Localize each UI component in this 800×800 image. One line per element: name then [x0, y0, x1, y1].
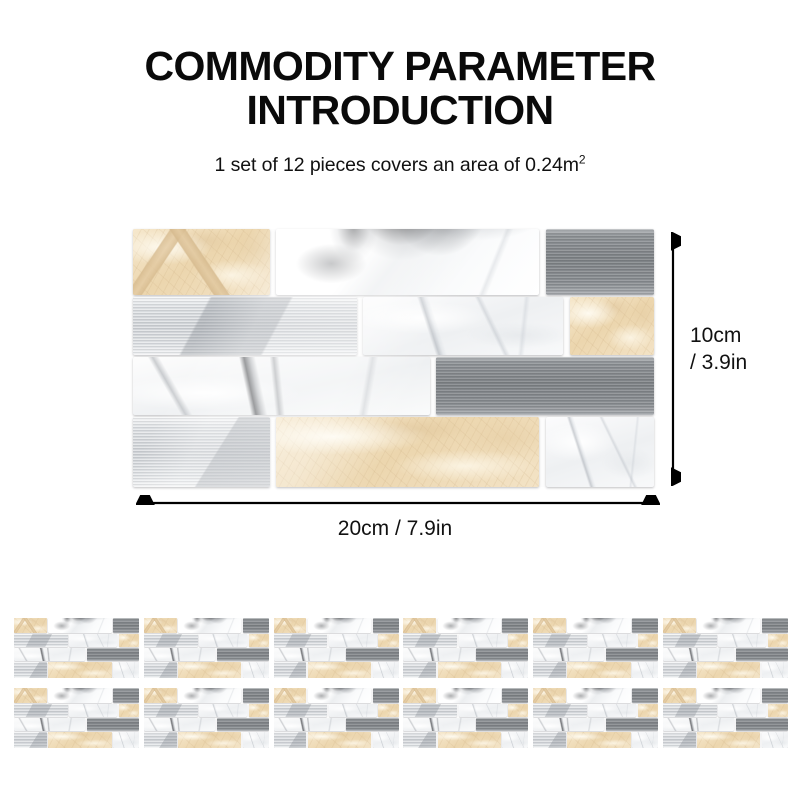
- piece-thumbnail: [274, 618, 399, 678]
- mosaic-tile: [308, 732, 371, 748]
- mosaic-row: [144, 718, 269, 731]
- mosaic-tile: [308, 662, 371, 678]
- mosaic-row: [133, 357, 654, 415]
- mosaic-row: [14, 718, 139, 731]
- width-dimension-label: 20cm / 7.9in: [133, 517, 657, 541]
- mosaic-tile: [606, 648, 658, 661]
- mosaic-tile: [476, 648, 528, 661]
- mosaic-tile: [567, 662, 630, 678]
- mosaic-tile: [533, 634, 587, 647]
- mosaic-tile: [736, 648, 788, 661]
- mosaic-tile: [48, 618, 111, 633]
- mosaic-tile: [144, 688, 177, 703]
- mosaic-row: [274, 662, 399, 678]
- mosaic-row: [144, 732, 269, 748]
- subtitle: 1 set of 12 pieces covers an area of 0.2…: [0, 154, 800, 177]
- mosaic-row: [533, 688, 658, 703]
- mosaic-row: [274, 618, 399, 633]
- mosaic-row: [14, 618, 139, 633]
- mosaic-tile: [14, 662, 47, 678]
- mosaic-tile: [459, 704, 507, 717]
- page-title-line-1: COMMODITY PARAMETER: [0, 44, 800, 88]
- piece-thumbnail: [14, 618, 139, 678]
- mosaic-row: [144, 662, 269, 678]
- mosaic-tile: [718, 704, 766, 717]
- mosaic-tile: [459, 634, 507, 647]
- mosaic-tile: [533, 662, 566, 678]
- mosaic-tile: [133, 297, 357, 355]
- mosaic-tile: [508, 634, 528, 647]
- mosaic-tile: [48, 732, 111, 748]
- mosaic-row: [144, 704, 269, 717]
- mosaic-tile: [274, 704, 328, 717]
- mosaic-row: [403, 634, 528, 647]
- mosaic-tile: [69, 704, 117, 717]
- mosaic-row: [403, 648, 528, 661]
- piece-thumbnail: [144, 688, 269, 748]
- mosaic-tile: [718, 634, 766, 647]
- mosaic-tile: [87, 648, 139, 661]
- mosaic-tile: [533, 732, 566, 748]
- mosaic-row: [663, 704, 788, 717]
- mosaic-tile: [663, 648, 734, 661]
- mosaic-row: [274, 688, 399, 703]
- mosaic-tile: [508, 704, 528, 717]
- mosaic-tile: [133, 417, 270, 487]
- mosaic-row: [403, 618, 528, 633]
- mosaic-row: [533, 648, 658, 661]
- mosaic-row: [403, 662, 528, 678]
- mosaic-tile: [570, 297, 654, 355]
- mosaic-tile: [178, 662, 241, 678]
- mosaic-tile: [546, 229, 654, 295]
- mosaic-tile: [144, 648, 215, 661]
- mosaic-row: [274, 648, 399, 661]
- mosaic-tile: [606, 718, 658, 731]
- mosaic-row: [274, 732, 399, 748]
- mosaic-tile: [178, 732, 241, 748]
- mosaic-tile: [697, 732, 760, 748]
- piece-thumbnail: [144, 618, 269, 678]
- mosaic-row: [533, 718, 658, 731]
- mosaic-tile: [113, 688, 139, 703]
- mosaic-tile: [249, 634, 269, 647]
- mosaic-tile: [69, 634, 117, 647]
- mosaic-tile: [533, 648, 604, 661]
- mosaic-tile: [274, 688, 307, 703]
- mosaic-tile: [119, 704, 139, 717]
- mosaic-tile: [438, 662, 501, 678]
- mosaic-tile: [14, 648, 85, 661]
- mosaic-tile: [243, 618, 269, 633]
- mosaic-tile: [436, 357, 654, 415]
- piece-thumbnail: [14, 688, 139, 748]
- mosaic-tile: [403, 648, 474, 661]
- mosaic-tile: [533, 688, 566, 703]
- mosaic-tile: [567, 688, 630, 703]
- mosaic-tile: [697, 662, 760, 678]
- mosaic-tile: [502, 618, 528, 633]
- mosaic-tile: [178, 618, 241, 633]
- mosaic-tile: [533, 704, 587, 717]
- mosaic-tile: [346, 718, 398, 731]
- mosaic-tile: [438, 688, 501, 703]
- mosaic-tile: [533, 618, 566, 633]
- mosaic-tile: [14, 634, 68, 647]
- mosaic-tile: [363, 297, 563, 355]
- mosaic-tile: [274, 634, 328, 647]
- mosaic-tile: [768, 634, 788, 647]
- mosaic-row: [533, 618, 658, 633]
- mosaic-tile: [697, 688, 760, 703]
- mosaic-tile: [274, 732, 307, 748]
- mosaic-tile: [632, 618, 658, 633]
- mosaic-tile: [638, 634, 658, 647]
- mosaic-tile: [663, 634, 717, 647]
- mosaic-row: [133, 417, 654, 487]
- mosaic-row: [663, 732, 788, 748]
- mosaic-tile: [274, 718, 345, 731]
- mosaic-tile: [438, 732, 501, 748]
- mosaic-tile: [768, 704, 788, 717]
- mosaic-tile: [762, 662, 788, 678]
- mosaic-row: [403, 704, 528, 717]
- mosaic-row: [144, 634, 269, 647]
- mosaic-row: [133, 229, 654, 295]
- mosaic-row: [663, 662, 788, 678]
- mosaic-row: [14, 662, 139, 678]
- mosaic-tile: [144, 718, 215, 731]
- mosaic-row: [14, 688, 139, 703]
- mosaic-tile: [403, 688, 436, 703]
- mosaic-tile: [113, 732, 139, 748]
- mosaic-tile: [308, 688, 371, 703]
- mosaic-row: [403, 688, 528, 703]
- mosaic-tile: [199, 704, 247, 717]
- page-title-line-2: INTRODUCTION: [0, 88, 800, 132]
- width-dimension-arrow: [136, 495, 660, 511]
- mosaic-row: [403, 732, 528, 748]
- mosaic-tile: [378, 634, 398, 647]
- mosaic-row: [533, 634, 658, 647]
- mosaic-tile: [119, 634, 139, 647]
- mosaic-tile: [243, 688, 269, 703]
- mosaic-row: [533, 662, 658, 678]
- mosaic-tile: [663, 688, 696, 703]
- mosaic-tile: [178, 688, 241, 703]
- mosaic-tile: [274, 648, 345, 661]
- height-value-cm: 10cm: [690, 322, 747, 349]
- mosaic-tile: [346, 648, 398, 661]
- piece-thumbnail: [663, 618, 788, 678]
- mosaic-row: [14, 704, 139, 717]
- mosaic-tile: [14, 618, 47, 633]
- mosaic-tile: [329, 704, 377, 717]
- mosaic-tile: [438, 618, 501, 633]
- mosaic-tile: [274, 662, 307, 678]
- mosaic-tile: [502, 732, 528, 748]
- mosaic-tile: [373, 662, 399, 678]
- mosaic-tile: [373, 618, 399, 633]
- mosaic-tile: [113, 618, 139, 633]
- mosaic-tile: [133, 229, 270, 295]
- mosaic-tile: [663, 662, 696, 678]
- mosaic-row: [144, 618, 269, 633]
- tile-mosaic-preview: [133, 229, 654, 487]
- subtitle-superscript: 2: [579, 153, 586, 167]
- mosaic-tile: [14, 704, 68, 717]
- piece-thumbnail: [533, 688, 658, 748]
- mosaic-tile: [48, 662, 111, 678]
- heading-block: COMMODITY PARAMETER INTRODUCTION 1 set o…: [0, 44, 800, 177]
- mosaic-row: [274, 704, 399, 717]
- mosaic-tile: [502, 688, 528, 703]
- mosaic-tile: [199, 634, 247, 647]
- mosaic-tile: [373, 732, 399, 748]
- mosaic-row: [144, 648, 269, 661]
- mosaic-tile: [249, 704, 269, 717]
- mosaic-row: [14, 634, 139, 647]
- mosaic-tile: [663, 704, 717, 717]
- mosaic-tile: [663, 732, 696, 748]
- mosaic-row: [14, 732, 139, 748]
- mosaic-tile: [663, 718, 734, 731]
- mosaic-tile: [274, 618, 307, 633]
- mosaic-tile: [403, 732, 436, 748]
- mosaic-row: [663, 648, 788, 661]
- mosaic-tile: [632, 662, 658, 678]
- subtitle-text: 1 set of 12 pieces covers an area of 0.2…: [215, 154, 579, 176]
- mosaic-tile: [14, 688, 47, 703]
- piece-thumbnail: [403, 618, 528, 678]
- piece-thumbnail-grid: [14, 618, 788, 748]
- mosaic-tile: [14, 718, 85, 731]
- mosaic-tile: [243, 732, 269, 748]
- mosaic-tile: [378, 704, 398, 717]
- mosaic-tile: [144, 662, 177, 678]
- mosaic-row: [274, 718, 399, 731]
- mosaic-row: [533, 704, 658, 717]
- height-dimension-arrow: [665, 232, 681, 486]
- mosaic-row: [663, 634, 788, 647]
- mosaic-tile: [638, 704, 658, 717]
- mosaic-row: [133, 297, 654, 355]
- mosaic-tile: [403, 662, 436, 678]
- mosaic-tile: [476, 718, 528, 731]
- mosaic-tile: [87, 718, 139, 731]
- mosaic-tile: [762, 732, 788, 748]
- mosaic-tile: [632, 732, 658, 748]
- mosaic-row: [663, 618, 788, 633]
- mosaic-tile: [144, 618, 177, 633]
- mosaic-tile: [144, 704, 198, 717]
- mosaic-tile: [48, 688, 111, 703]
- mosaic-row: [144, 688, 269, 703]
- mosaic-tile: [736, 718, 788, 731]
- mosaic-row: [533, 732, 658, 748]
- mosaic-tile: [632, 688, 658, 703]
- mosaic-tile: [14, 732, 47, 748]
- mosaic-tile: [502, 662, 528, 678]
- mosaic-tile: [546, 417, 654, 487]
- mosaic-row: [663, 718, 788, 731]
- mosaic-row: [274, 634, 399, 647]
- mosaic-tile: [144, 732, 177, 748]
- mosaic-row: [403, 718, 528, 731]
- mosaic-tile: [243, 662, 269, 678]
- mosaic-tile: [276, 417, 540, 487]
- mosaic-tile: [276, 229, 540, 295]
- mosaic-tile: [113, 662, 139, 678]
- mosaic-tile: [217, 718, 269, 731]
- piece-thumbnail: [533, 618, 658, 678]
- mosaic-tile: [567, 618, 630, 633]
- mosaic-tile: [533, 718, 604, 731]
- height-dimension-label: 10cm / 3.9in: [690, 322, 747, 376]
- mosaic-tile: [697, 618, 760, 633]
- mosaic-tile: [588, 704, 636, 717]
- mosaic-tile: [403, 718, 474, 731]
- mosaic-tile: [663, 618, 696, 633]
- mosaic-tile: [144, 634, 198, 647]
- mosaic-tile: [217, 648, 269, 661]
- mosaic-tile: [133, 357, 430, 415]
- mosaic-tile: [762, 618, 788, 633]
- mosaic-tile: [308, 618, 371, 633]
- piece-thumbnail: [274, 688, 399, 748]
- mosaic-tile: [588, 634, 636, 647]
- mosaic-row: [14, 648, 139, 661]
- piece-thumbnail: [663, 688, 788, 748]
- mosaic-tile: [567, 732, 630, 748]
- mosaic-tile: [403, 618, 436, 633]
- mosaic-tile: [373, 688, 399, 703]
- height-value-in: / 3.9in: [690, 349, 747, 376]
- mosaic-tile: [762, 688, 788, 703]
- mosaic-tile: [329, 634, 377, 647]
- mosaic-tile: [403, 634, 457, 647]
- piece-thumbnail: [403, 688, 528, 748]
- mosaic-tile: [403, 704, 457, 717]
- mosaic-row: [663, 688, 788, 703]
